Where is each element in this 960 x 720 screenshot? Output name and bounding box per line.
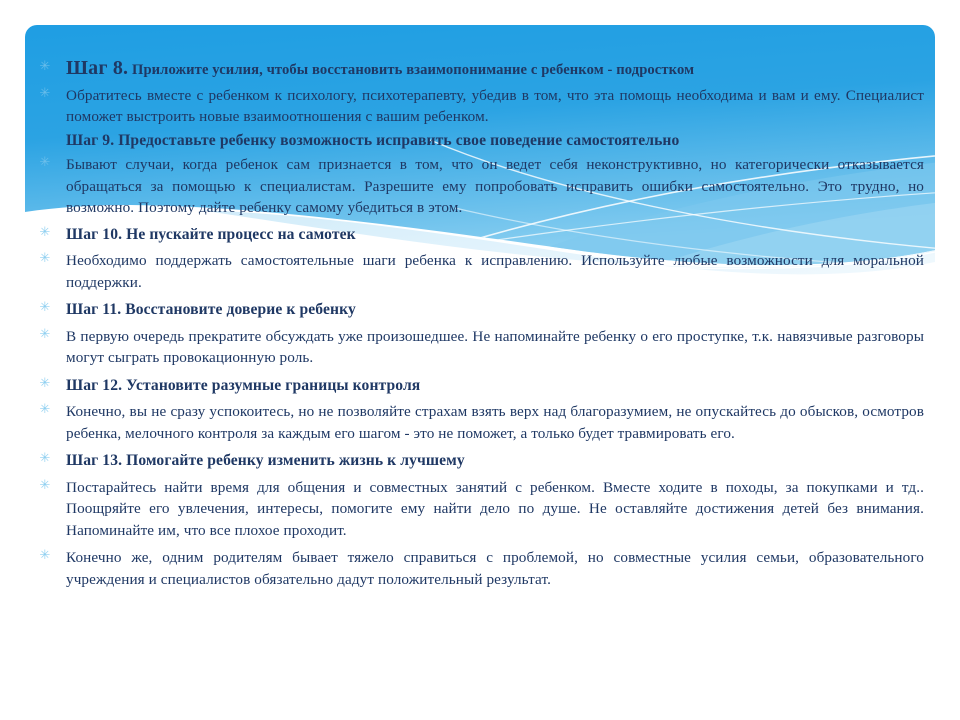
list-item: ✳ Шаг 10. Не пускайте процесс на самотек (0, 224, 960, 246)
bullet-asterisk-icon: ✳ (38, 377, 52, 390)
step-11-heading: Шаг 11. Восстановите доверие к ребенку (66, 299, 924, 321)
bullet-asterisk-icon: ✳ (38, 452, 52, 465)
list-item: ✳ Шаг 13. Помогайте ребенку изменить жиз… (0, 450, 960, 472)
step-8-lead: Шаг 8. (66, 57, 128, 79)
step-13-heading: Шаг 13. Помогайте ребенку изменить жизнь… (66, 450, 924, 472)
step-10-heading: Шаг 10. Не пускайте процесс на самотек (66, 224, 924, 246)
bullet-asterisk-icon: ✳ (38, 301, 52, 314)
step-8-heading: Шаг 8. Приложите усилия, чтобы восстанов… (66, 58, 924, 82)
list-item: ✳ Обратитесь вместе с ребенком к психоло… (0, 85, 960, 128)
slide-body: ✳ Шаг 8. Приложите усилия, чтобы восстан… (0, 58, 960, 590)
step-11-body: В первую очередь прекратите обсуждать уж… (66, 326, 924, 369)
bullet-asterisk-icon: ✳ (38, 403, 52, 416)
bullet-asterisk-icon: ✳ (38, 549, 52, 562)
step-10-body: Необходимо поддержать самостоятельные ша… (66, 250, 924, 293)
step-12-body: Конечно, вы не сразу успокоитесь, но не … (66, 401, 924, 444)
bullet-asterisk-icon: ✳ (38, 87, 52, 100)
step-9-heading: Шаг 9. Предоставьте ребенку возможность … (66, 130, 924, 152)
list-item: ✳ В первую очередь прекратите обсуждать … (0, 326, 960, 369)
bullet-asterisk-icon: ✳ (38, 328, 52, 341)
bullet-asterisk-icon: ✳ (38, 226, 52, 239)
list-item: ✳ Конечно, вы не сразу успокоитесь, но н… (0, 401, 960, 444)
step-8-body: Обратитесь вместе с ребенком к психологу… (66, 85, 924, 128)
list-item: ✳ Шаг 11. Восстановите доверие к ребенку (0, 299, 960, 321)
list-item: ✳ Постарайтесь найти время для общения и… (0, 477, 960, 542)
step-13-body: Постарайтесь найти время для общения и с… (66, 477, 924, 542)
list-item: ✳ Бывают случаи, когда ребенок сам призн… (0, 154, 960, 219)
list-item: ✳ Необходимо поддержать самостоятельные … (0, 250, 960, 293)
slide-canvas: ✳ Шаг 8. Приложите усилия, чтобы восстан… (0, 0, 960, 720)
bullet-asterisk-icon: ✳ (38, 252, 52, 265)
list-item: Шаг 9. Предоставьте ребенку возможность … (0, 130, 960, 152)
bullet-asterisk-icon: ✳ (38, 60, 52, 73)
step-12-heading: Шаг 12. Установите разумные границы конт… (66, 375, 924, 397)
list-item: ✳ Шаг 8. Приложите усилия, чтобы восстан… (0, 58, 960, 82)
bullet-asterisk-icon: ✳ (38, 479, 52, 492)
list-item: ✳ Шаг 12. Установите разумные границы ко… (0, 375, 960, 397)
list-item: ✳ Конечно же, одним родителям бывает тяж… (0, 547, 960, 590)
step-8-lead-rest: Приложите усилия, чтобы восстановить вза… (128, 62, 694, 78)
bullet-asterisk-icon: ✳ (38, 156, 52, 169)
closing-body: Конечно же, одним родителям бывает тяжел… (66, 547, 924, 590)
step-9-body: Бывают случаи, когда ребенок сам признае… (66, 154, 924, 219)
